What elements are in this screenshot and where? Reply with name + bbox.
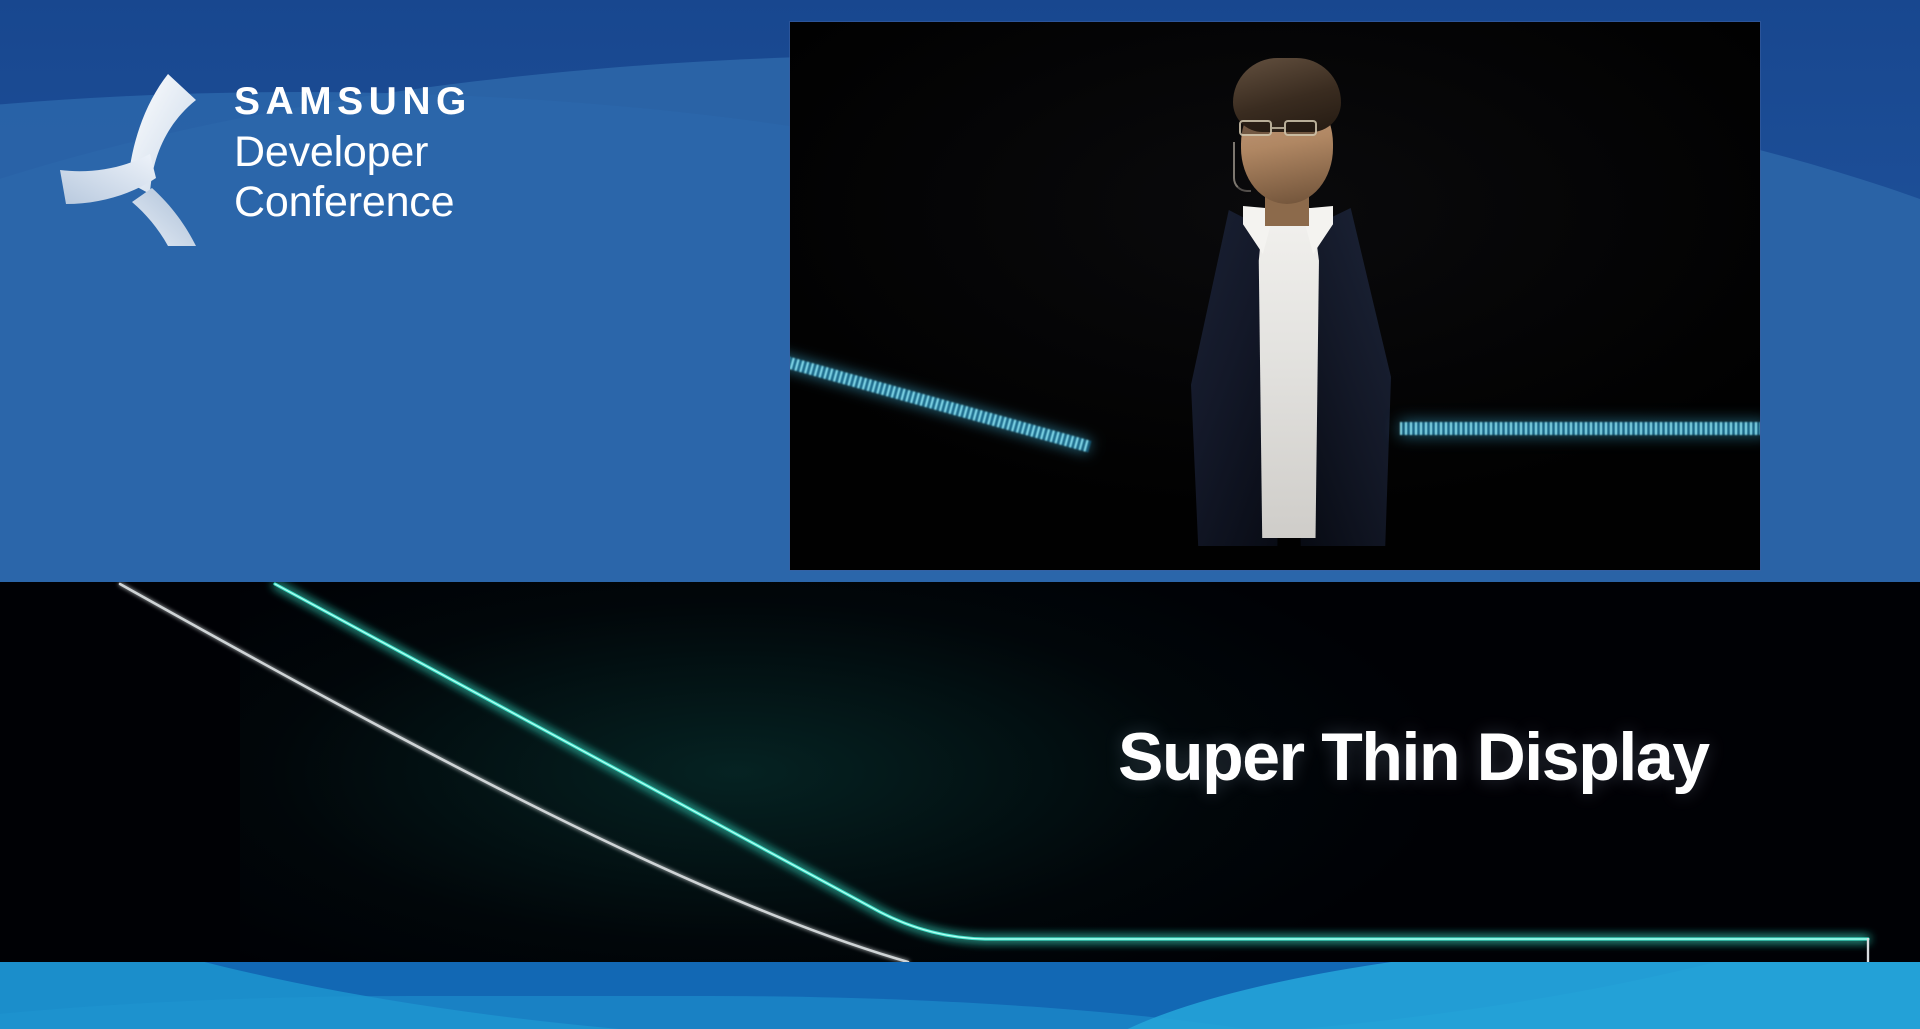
- presenter-figure: [1137, 50, 1437, 550]
- presentation-slide: SAMSUNG Developer Conference: [0, 0, 1920, 1029]
- sdc-triblade-logo-icon: [56, 66, 228, 248]
- display-edge-vertical-line: [0, 860, 1920, 965]
- footer-background: [0, 962, 1920, 1029]
- stage-video-feed: [790, 22, 1760, 570]
- sdc-logo-wordmark: SAMSUNG Developer Conference: [234, 82, 654, 226]
- presenter-glasses-icon: [1237, 120, 1337, 137]
- sdc-logo: SAMSUNG Developer Conference: [56, 62, 656, 252]
- brand-samsung: SAMSUNG: [234, 82, 654, 121]
- brand-developer: Developer: [234, 128, 654, 176]
- brand-conference: Conference: [234, 178, 654, 226]
- feature-title: Super Thin Display: [1118, 718, 1709, 796]
- cyan-led-strip-horizontal: [1400, 422, 1760, 435]
- presenter-headset-mic-icon: [1233, 142, 1251, 192]
